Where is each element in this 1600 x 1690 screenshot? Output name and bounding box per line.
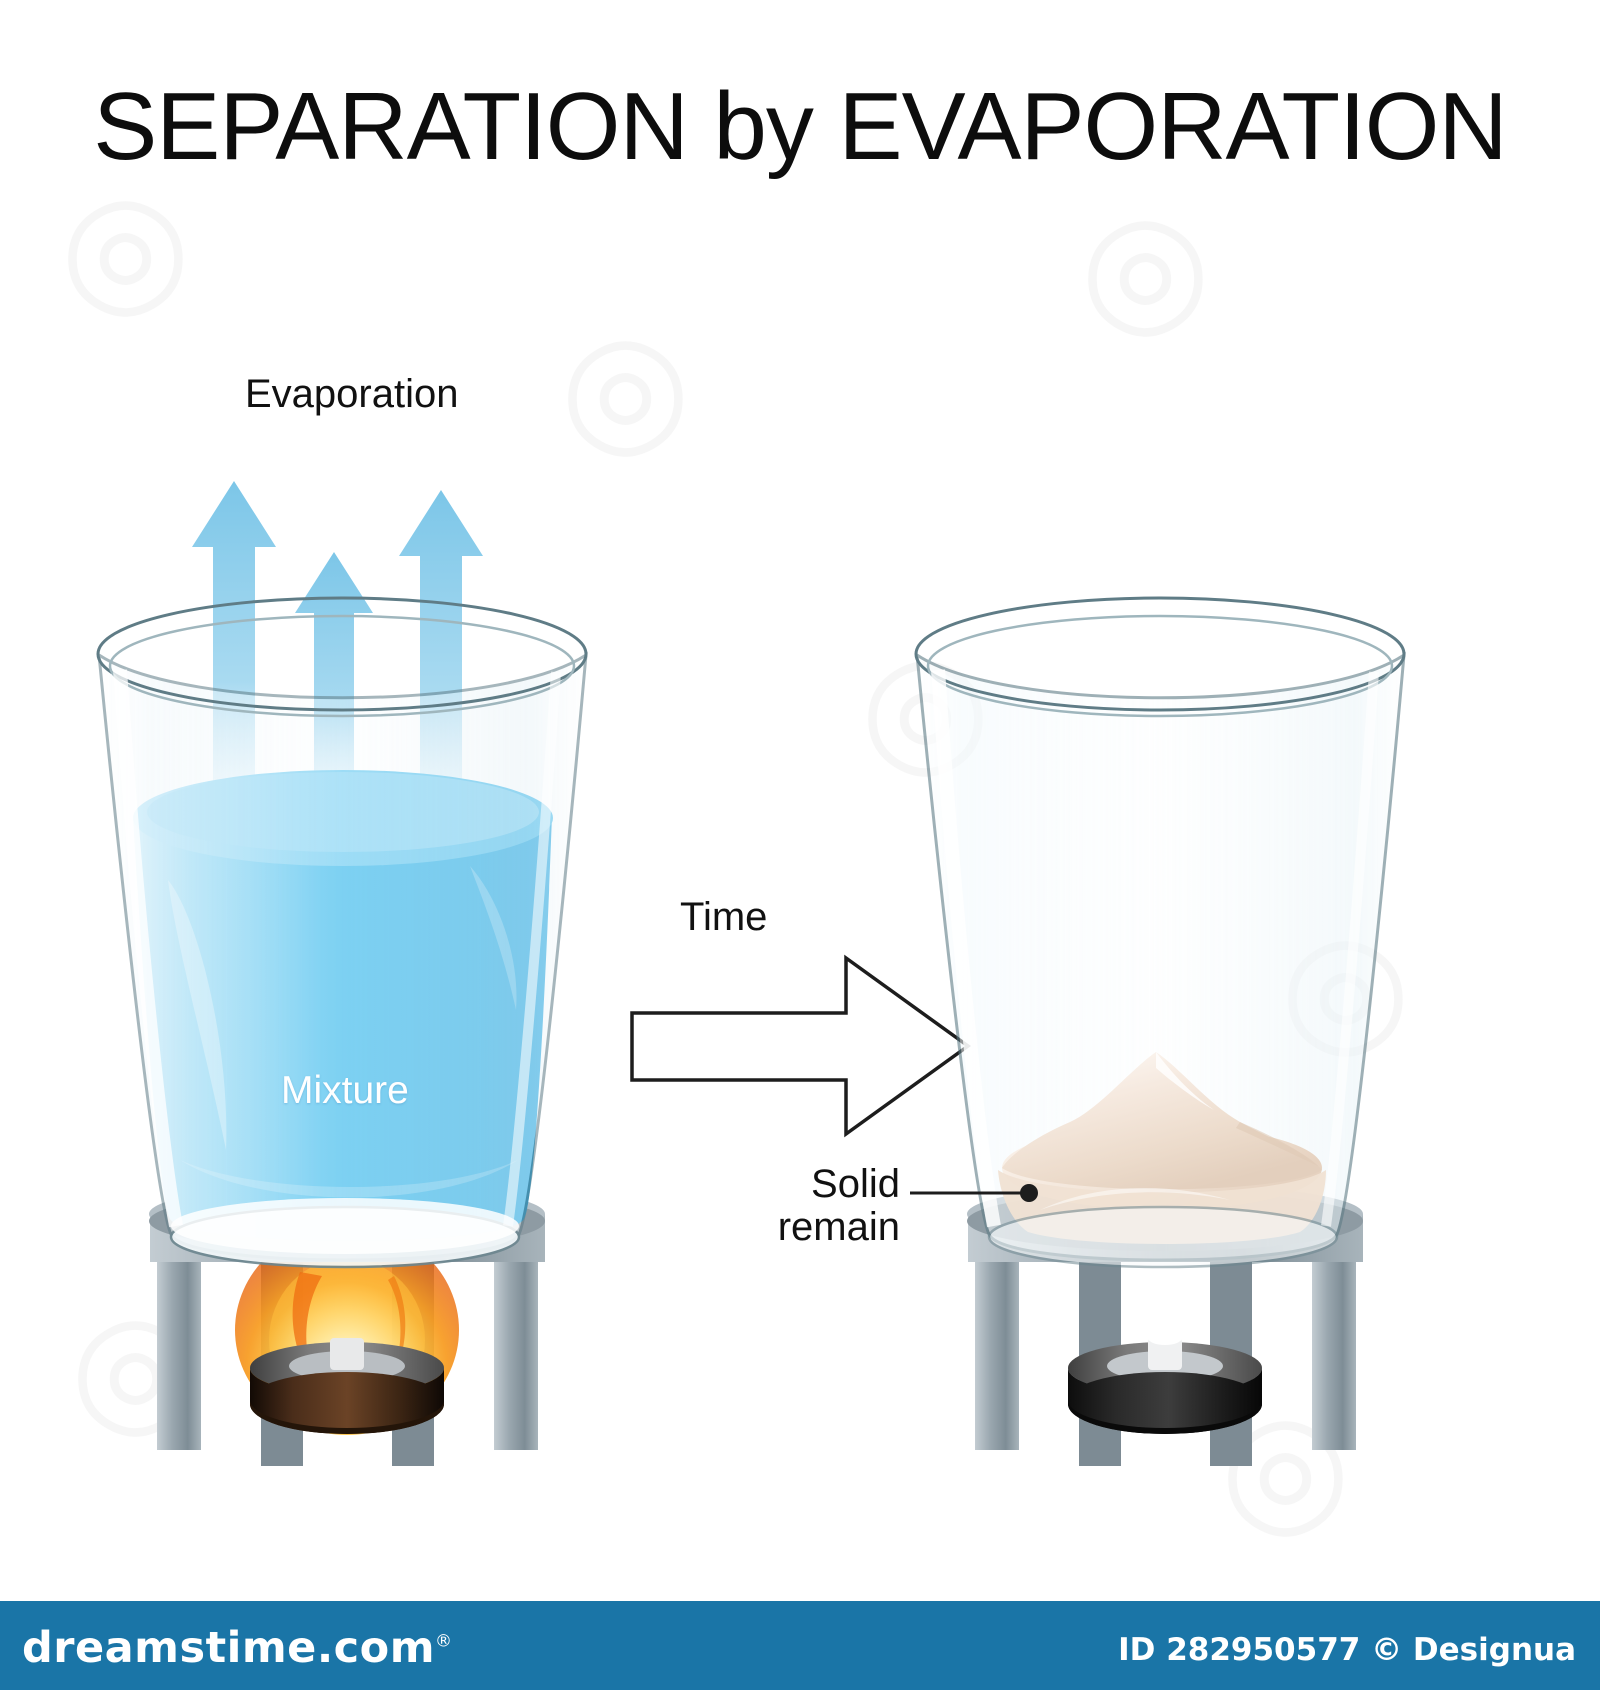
brand-text: dreamstime.com: [22, 1623, 435, 1673]
evaporation-label: Evaporation: [245, 373, 458, 416]
footer-bar: dreamstime.com® ID 282950577 © Designua: [0, 1601, 1600, 1690]
evaporation-illustration: [0, 0, 1600, 1690]
solid-remain-line-2: remain: [778, 1205, 900, 1249]
left-burner: [250, 1338, 444, 1434]
solid-remain-label: Solid remain: [660, 1163, 900, 1249]
image-credit: ID 282950577 © Designua: [1118, 1632, 1576, 1668]
mixture-label: Mixture: [281, 1070, 409, 1112]
right-arrow-icon[interactable]: [632, 958, 968, 1134]
beaker-base: [989, 1207, 1337, 1267]
beaker-with-mixture: [98, 598, 586, 1267]
time-label: Time: [680, 896, 767, 939]
dreamstime-logo[interactable]: dreamstime.com®: [22, 1623, 453, 1673]
diagram-canvas: ◎ ◎ ◎ ◎ ◎ ◎ ◎ ◎ SEPARATION by EVAPORATIO…: [0, 0, 1600, 1690]
callout-dot-icon: [1020, 1184, 1038, 1202]
beaker-with-solid-remain: [916, 598, 1404, 1267]
solid-remain-line-1: Solid: [811, 1162, 900, 1206]
registered-mark-icon: ®: [435, 1632, 453, 1652]
